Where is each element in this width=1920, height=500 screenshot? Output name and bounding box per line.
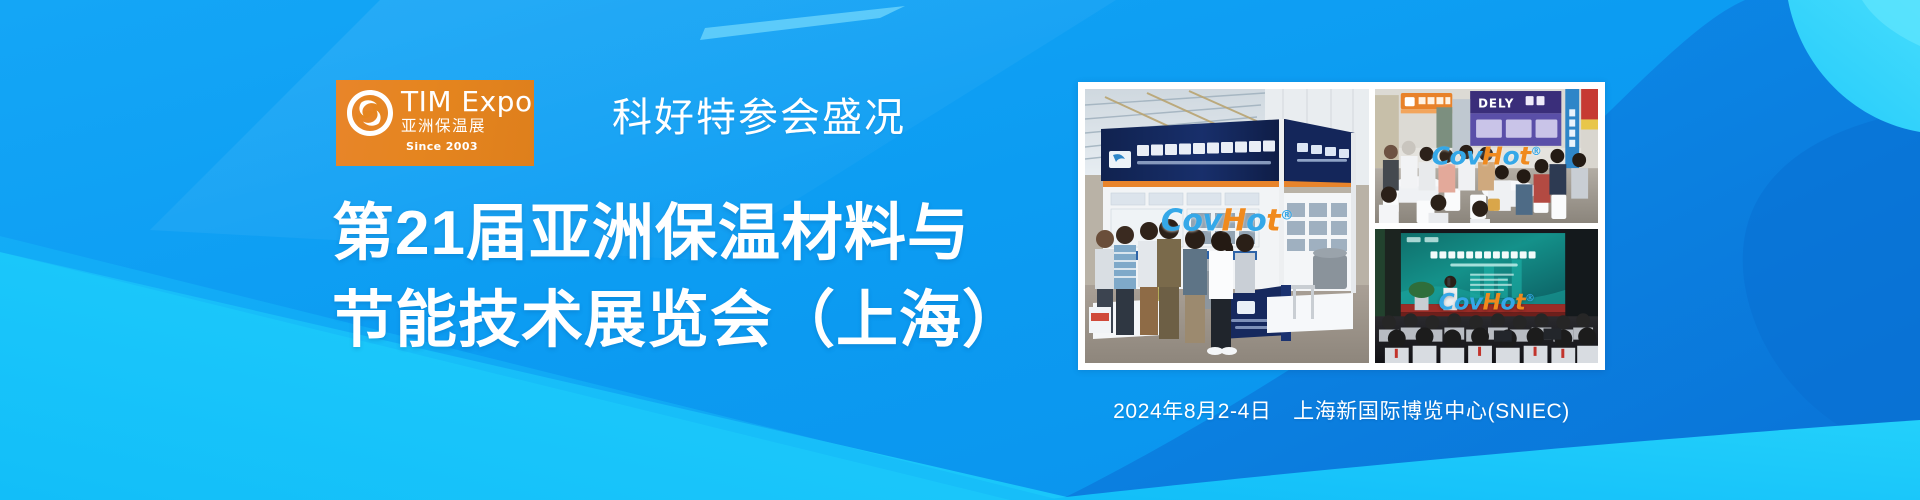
logo-since-text: Since 2003 <box>406 140 534 153</box>
svg-text:DELY: DELY <box>1478 96 1514 110</box>
exhibition-banner: TIM Expo 亚洲保温展 Since 2003 科好特参会盛况 第21届亚洲… <box>0 0 1920 500</box>
photo-collage: CovHot® <box>1078 82 1605 370</box>
logo-main-row: TIM Expo 亚洲保温展 <box>336 87 534 138</box>
photo-hall[interactable]: DELY <box>1375 89 1598 223</box>
kicker-text: 科好特参会盛况 <box>612 92 906 144</box>
headline-line-2: 节能技术展览会（上海） <box>332 277 1025 364</box>
headline-line-1: 第21届亚洲保温材料与 <box>332 190 1025 277</box>
date-venue-text: 2024年8月2-4日 上海新国际博览中心(SNIEC) <box>1078 395 1605 425</box>
photo-forum[interactable]: CovHot® <box>1375 229 1598 363</box>
tim-expo-circular-mark <box>345 88 395 138</box>
photo-booth[interactable]: CovHot® <box>1085 89 1369 363</box>
collage-right-column: DELY <box>1375 89 1598 363</box>
tim-expo-logo[interactable]: TIM Expo 亚洲保温展 Since 2003 <box>336 80 534 166</box>
logo-text-column: TIM Expo 亚洲保温展 <box>401 87 533 136</box>
logo-title: TIM Expo <box>401 87 533 116</box>
logo-subtitle: 亚洲保温展 <box>401 117 533 136</box>
page-title: 第21届亚洲保温材料与 节能技术展览会（上海） <box>332 190 1025 364</box>
